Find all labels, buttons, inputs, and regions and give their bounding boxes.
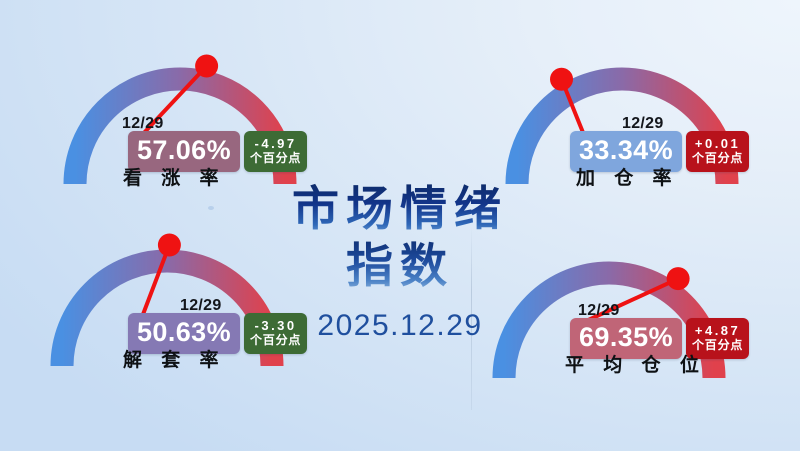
gauge-needle-tip [667, 267, 690, 290]
gauge-delta-badge-bullish-rate: -4.97个百分点 [244, 131, 307, 172]
gauge-name-label-unwind-rate: 解 套 率 [123, 345, 226, 372]
gauge-delta-unit-bullish-rate: 个百分点 [250, 152, 301, 166]
page-title-line1: 市场情绪 [280, 180, 520, 237]
report-date: 2025.12.29 [280, 309, 520, 343]
gauge-delta-value-average-position: +4.87 [695, 324, 740, 339]
gauge-delta-unit-unwind-rate: 个百分点 [250, 334, 301, 348]
gauge-delta-value-add-position-rate: +0.01 [695, 137, 740, 152]
gauge-delta-value-unwind-rate: -3.30 [255, 319, 297, 334]
gauge-name-label-bullish-rate: 看 涨 率 [123, 163, 226, 190]
page-title-line2: 指数 [280, 237, 520, 294]
gauge-delta-unit-add-position-rate: 个百分点 [692, 152, 743, 166]
gauge-delta-value-bullish-rate: -4.97 [255, 137, 297, 152]
market-sentiment-dashboard: 市场情绪 指数 2025.12.29 12/2957.06%-4.97个百分点看… [0, 0, 800, 451]
gauge-delta-badge-unwind-rate: -3.30个百分点 [244, 313, 307, 354]
gauge-needle-tip [550, 68, 573, 91]
gauge-needle-tip [195, 54, 218, 77]
gauge-needle-tip [158, 234, 181, 257]
center-title-block: 市场情绪 指数 2025.12.29 [280, 180, 520, 343]
gauge-delta-badge-add-position-rate: +0.01个百分点 [686, 131, 749, 172]
gauge-name-label-average-position: 平 均 仓 位 [565, 350, 706, 377]
gauge-name-label-add-position-rate: 加 仓 率 [576, 163, 679, 190]
